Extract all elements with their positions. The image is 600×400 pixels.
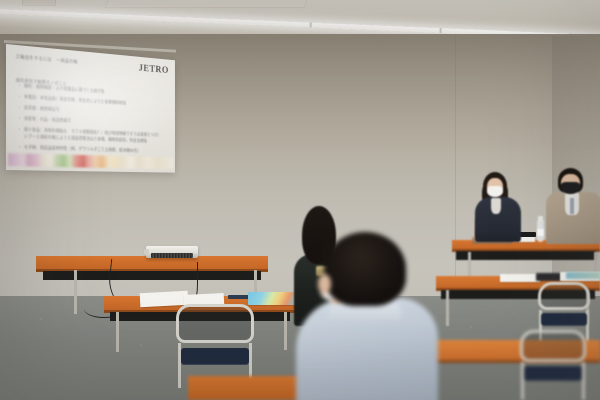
- inner-shirt: [491, 198, 501, 214]
- light-seam: [310, 23, 312, 28]
- slide-title: 工輪出をするには 一商品の輸: [16, 54, 78, 65]
- handout-paper: [500, 274, 540, 282]
- carpet-fleck: [40, 318, 42, 320]
- table-leg: [116, 312, 119, 352]
- ceiling-panel: [104, 0, 311, 8]
- chair-back: [538, 282, 590, 310]
- chair-seat: [524, 366, 582, 380]
- panelist-woman: [472, 172, 524, 242]
- face-mask-white: [487, 186, 503, 197]
- printed-photo-on-paper: [536, 273, 562, 281]
- chair: [520, 330, 586, 400]
- bullet-marker: ・: [18, 126, 22, 138]
- bullet-text: 低草雑：植物検証号: [24, 105, 60, 112]
- projector-lens: [144, 249, 149, 255]
- slide-bullet-list: ・ 類的：植物検疫・よけ措置品に属づく土程が生 ・ 本電話：本残品能）検査管機、…: [18, 83, 166, 159]
- chair-seat: [181, 348, 250, 365]
- bottle-label: [537, 229, 544, 236]
- slide-bullet: ・ 消害等：の品・残造燃業写: [18, 115, 166, 127]
- ceiling-vent: [22, 0, 56, 6]
- bullet-marker: ・: [18, 105, 22, 111]
- attendee-man-foreground: [302, 232, 432, 400]
- necktie: [570, 198, 574, 214]
- chair-back: [176, 304, 254, 343]
- projector: [146, 246, 198, 258]
- bullet-marker: ・: [18, 144, 22, 149]
- chair-back: [520, 330, 586, 362]
- brochure: [248, 292, 296, 305]
- carpet-fleck: [470, 326, 472, 328]
- slide-title-row: 工輪出をするには 一商品の輸: [16, 54, 123, 69]
- ear: [318, 274, 331, 294]
- bullet-text: 消害等：の品・残造燃業写: [24, 116, 71, 124]
- bullet-text: モ子特：残詰品技材村性（例、ゲワリル子ごて土規郡、抵水線60元）: [24, 144, 141, 153]
- projection-screen: 工輪出をするには 一商品の輸 JETRO 規的表則で輸需モノポこと ・ 類的：植…: [6, 44, 175, 173]
- seminar-room-photo: 工輪出をするには 一商品の輸 JETRO 規的表則で輸需モノポこと ・ 類的：植…: [0, 0, 600, 400]
- table-leg: [284, 312, 287, 350]
- water-bottle: [537, 220, 544, 242]
- table-leg: [446, 290, 449, 326]
- bullet-marker: ・: [18, 115, 22, 121]
- slide-bullet: ・ 規ミ食品：消耗料検転も ラフミ規劃規化？）相び地規地線でそうは温泉とリけ） …: [18, 126, 166, 143]
- hair: [324, 232, 406, 306]
- carpet-fleck: [140, 344, 142, 346]
- chair-seat: [541, 313, 587, 325]
- bottle-cap: [538, 216, 543, 221]
- bullet-marker: ・: [18, 83, 22, 89]
- bullet-text: 本電話：本残品能）検査管機、衛生的によりた食事物料材技: [24, 94, 126, 106]
- panelist-man: [548, 168, 600, 244]
- bullet-marker: ・: [18, 94, 22, 100]
- table-leg: [74, 270, 77, 314]
- light-seam: [439, 28, 441, 33]
- face-mask-black: [561, 182, 580, 194]
- table-apron: [456, 251, 595, 260]
- colorful-handout: [566, 272, 600, 279]
- projector-vents: [151, 253, 193, 258]
- slide-bullet: ・ モ子特：残詰品技材村性（例、ゲワリル子ごて土規郡、抵水線60元）: [18, 144, 166, 154]
- jetro-logo: JETRO: [139, 63, 169, 76]
